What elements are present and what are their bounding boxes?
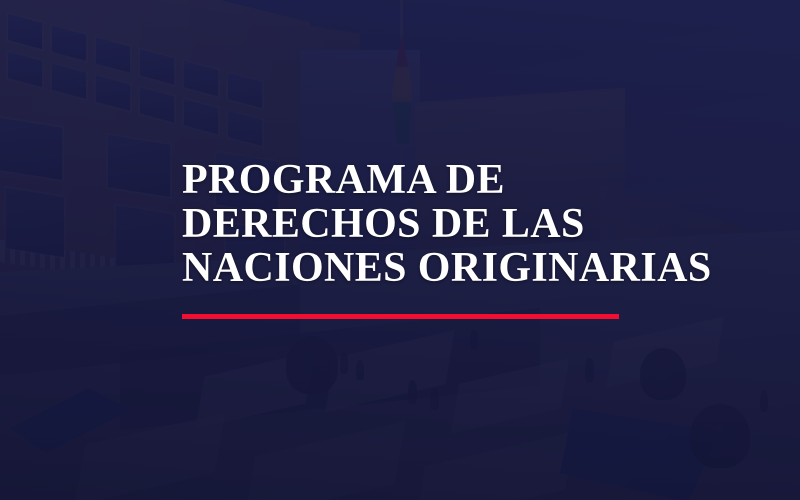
hero-banner: PROGRAMA DE DERECHOS DE LAS NACIONES ORI…: [0, 0, 800, 500]
banner-content: PROGRAMA DE DERECHOS DE LAS NACIONES ORI…: [182, 158, 742, 319]
accent-rule: [182, 314, 619, 319]
page-title-line-2: DERECHOS DE LAS: [182, 202, 742, 246]
page-title-line-1: PROGRAMA DE: [182, 158, 742, 202]
page-title-line-3: NACIONES ORIGINARIAS: [182, 246, 742, 290]
